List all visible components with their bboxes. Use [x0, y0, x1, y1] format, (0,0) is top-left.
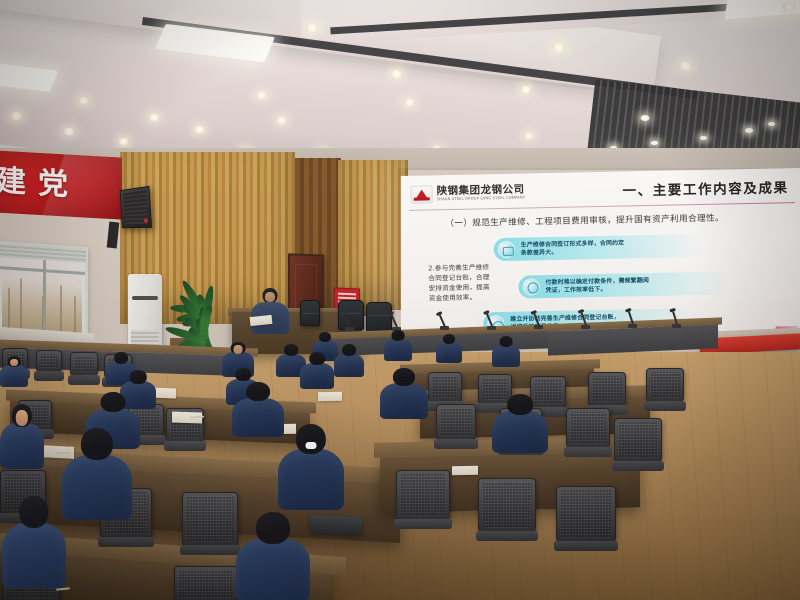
- face-mask: [306, 442, 317, 449]
- glasses: [91, 443, 104, 447]
- attendee-torso: [278, 449, 344, 509]
- chair-back: [556, 486, 616, 542]
- attendee-head: [319, 332, 331, 342]
- seated-attendee: [380, 368, 428, 418]
- attendee-torso: [0, 423, 44, 469]
- seated-attendee: [232, 382, 284, 436]
- attendee-torso: [436, 342, 462, 362]
- chair-back: [478, 478, 536, 532]
- chair[interactable]: [614, 418, 662, 462]
- attendee-face: [10, 359, 18, 366]
- closed-notebook: [310, 515, 362, 536]
- chair-back: [70, 352, 98, 376]
- chair-seat: [394, 519, 452, 529]
- chair-mesh: [186, 496, 234, 542]
- attendee-torso: [62, 455, 132, 520]
- slide-bullet: 付款时难以确定付款条件，需频繁翻阅 凭证，工作效率低下。: [518, 271, 726, 298]
- seated-attendee: [278, 424, 344, 508]
- chair[interactable]: [174, 566, 238, 600]
- attendee-torso: [492, 345, 520, 367]
- chair-seat: [68, 375, 100, 385]
- chair-seat: [98, 537, 154, 547]
- chair-seat: [164, 441, 206, 451]
- downlight: [782, 2, 796, 11]
- attendee-torso: [492, 411, 548, 453]
- slide-title: 一、主要工作内容及成果: [622, 176, 788, 199]
- attendee-head: [443, 334, 455, 344]
- chair-mesh: [482, 482, 532, 528]
- chair[interactable]: [36, 350, 62, 372]
- chair-mesh: [570, 412, 606, 444]
- chair[interactable]: [478, 478, 536, 532]
- downlight: [78, 97, 89, 104]
- attendee-torso: [232, 398, 284, 437]
- chair-back: [614, 418, 662, 462]
- downlight: [118, 138, 129, 145]
- chair-seat: [554, 541, 618, 551]
- seated-attendee: [436, 334, 462, 362]
- company-name-en: SHAAN STEEL GROUP LONG STEEL COMPANY: [437, 196, 526, 203]
- chair-seat: [180, 545, 240, 555]
- seated-attendee: [236, 512, 310, 600]
- leather-chair[interactable]: [366, 302, 392, 332]
- attendee-torso: [384, 339, 412, 361]
- slide-bullet: 生产维修合同签订形式多样，合同约定 条款差异大。: [494, 234, 702, 261]
- chair-back: [566, 408, 610, 448]
- chair-mesh: [592, 376, 622, 402]
- speaker-led: [144, 218, 148, 222]
- chair-seat: [476, 531, 538, 541]
- wall-speaker: [120, 186, 153, 228]
- chair-mesh: [400, 474, 446, 516]
- banner-text: 建党: [0, 154, 116, 217]
- chair-mesh: [650, 372, 680, 398]
- seated-attendee: [0, 356, 28, 386]
- glasses: [237, 374, 250, 378]
- seated-attendee: [492, 394, 548, 452]
- chair-seat: [564, 447, 612, 457]
- attendee-torso: [334, 354, 364, 377]
- downlight: [256, 92, 267, 99]
- chair-back: [174, 566, 238, 600]
- chair-seat: [34, 371, 64, 381]
- chair-back: [588, 372, 626, 406]
- leather-chair[interactable]: [300, 300, 320, 326]
- attendee-head: [296, 424, 326, 454]
- glasses: [107, 402, 120, 406]
- slide-left-note: 2.参与完善生产维修合同登记台账，合理安排资金使用，提高资金使用效率。: [428, 262, 491, 303]
- grille-light: [745, 128, 753, 133]
- clock-icon: [522, 278, 539, 295]
- chair-back: [436, 404, 476, 440]
- attendee-torso: [300, 363, 334, 389]
- chair[interactable]: [428, 372, 462, 402]
- seated-attendee: [0, 404, 44, 468]
- downlight: [194, 126, 205, 133]
- chair-back: [396, 470, 450, 520]
- microphone-base: [581, 325, 590, 329]
- attendee-head: [309, 352, 325, 365]
- attendee-torso: [0, 365, 28, 387]
- attendee-face: [234, 345, 243, 353]
- attendee-head: [19, 496, 48, 528]
- bullet-text: 付款时难以确定付款条件，需频繁翻阅 凭证，工作效率低下。: [545, 277, 649, 295]
- chair-back: [646, 368, 684, 402]
- contract-icon: [498, 241, 515, 258]
- chair-back: [36, 350, 62, 372]
- chair-mesh: [618, 422, 658, 458]
- attendee-head: [507, 394, 533, 415]
- ceiling: [0, 0, 800, 172]
- seated-attendee: [300, 352, 334, 388]
- attendee-head: [342, 344, 356, 356]
- chair[interactable]: [396, 470, 450, 520]
- attendee-head: [256, 512, 290, 544]
- presenter-at-podium: [248, 288, 292, 334]
- attendee-head: [500, 336, 513, 347]
- slide-subtitle: （一）规范生产维修、工程项目费用审核，提升国有资产利用合理性。: [445, 212, 724, 230]
- chair-back: [428, 372, 462, 402]
- seated-attendee: [2, 496, 66, 586]
- microphone-base: [628, 324, 637, 328]
- chair-mesh: [40, 354, 58, 368]
- seated-attendee: [384, 330, 412, 360]
- chair-mesh: [560, 490, 612, 538]
- downlight: [276, 117, 287, 124]
- chair-seat: [612, 461, 664, 471]
- attendee-torso: [380, 383, 428, 419]
- chair[interactable]: [436, 404, 476, 440]
- microphone-base: [672, 324, 681, 328]
- slide-title-underline: [409, 202, 795, 211]
- attendee-head: [114, 352, 128, 364]
- downlight: [10, 112, 23, 120]
- bullet-text: 生产维修合同签订形式多样，合同约定 条款差异大。: [521, 239, 625, 257]
- chair[interactable]: [182, 492, 238, 546]
- slide-logo: 陕钢集团龙钢公司 SHAAN STEEL GROUP LONG STEEL CO…: [411, 184, 526, 204]
- chair-mesh: [432, 376, 458, 398]
- notepad: [318, 392, 342, 401]
- attendee-torso: [2, 523, 66, 588]
- chair[interactable]: [556, 486, 616, 542]
- chair-mesh: [178, 570, 234, 598]
- chair-seat: [644, 401, 686, 411]
- chair-back: [182, 492, 238, 546]
- glasses: [392, 335, 405, 339]
- downlight: [404, 99, 415, 106]
- chair-seat: [434, 439, 478, 449]
- chair-mesh: [74, 356, 94, 372]
- company-logo-icon: [411, 185, 433, 203]
- downlight: [390, 70, 403, 78]
- chair[interactable]: [588, 372, 626, 406]
- seated-attendee: [334, 344, 364, 376]
- glasses: [398, 377, 411, 381]
- attendee-head: [284, 344, 298, 356]
- conference-room-photo: 建党: [0, 0, 800, 600]
- slide-content: 陕钢集团龙钢公司 SHAAN STEEL GROUP LONG STEEL CO…: [404, 170, 797, 346]
- chair[interactable]: [646, 368, 684, 402]
- notepad: [452, 466, 478, 475]
- downlight: [679, 62, 692, 70]
- chair[interactable]: [70, 352, 98, 376]
- chair[interactable]: [566, 408, 610, 448]
- attendee-torso: [236, 538, 310, 600]
- seated-attendee: [492, 336, 520, 366]
- attendee-head: [130, 370, 147, 384]
- attendee-head: [246, 382, 270, 401]
- seated-attendee: [62, 428, 132, 518]
- chair-mesh: [440, 408, 472, 436]
- downlight: [305, 23, 319, 32]
- projection-screen: 陕钢集团龙钢公司 SHAAN STEEL GROUP LONG STEEL CO…: [398, 168, 800, 346]
- downlight: [552, 43, 566, 52]
